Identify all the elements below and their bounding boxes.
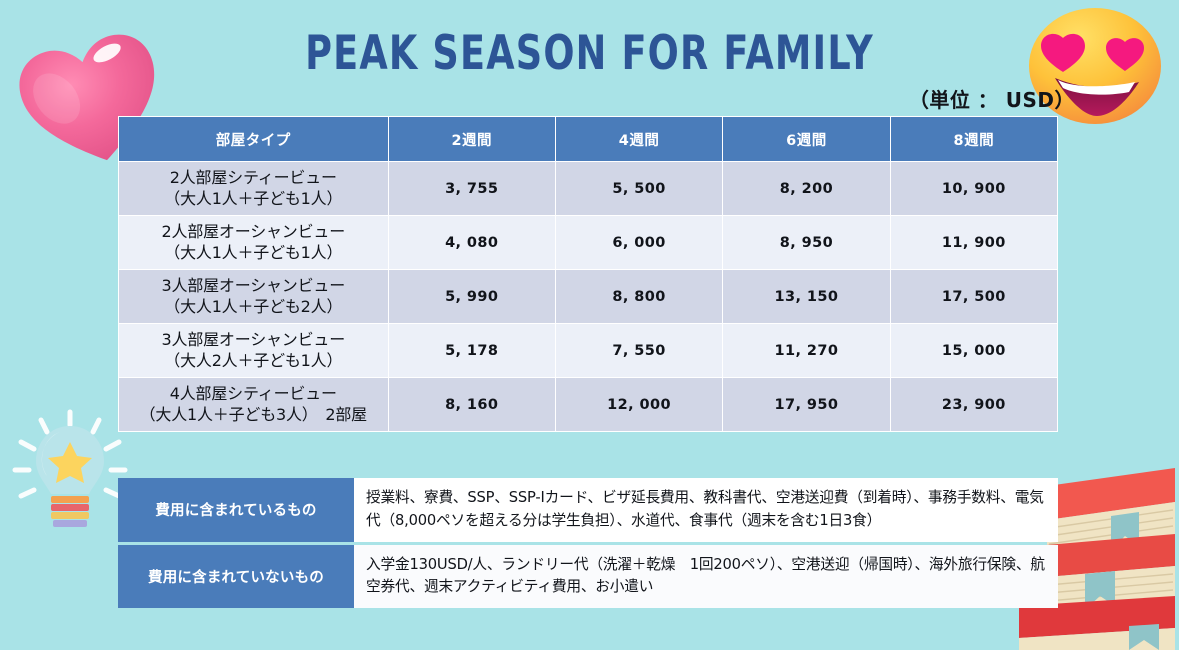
cell-price-6週間: 8, 200 (723, 162, 889, 215)
cell-price-4週間: 7, 550 (556, 324, 722, 377)
table-header-row: 部屋タイプ 2週間 4週間 6週間 8週間 (119, 117, 1057, 161)
column-header-8weeks: 8週間 (891, 117, 1057, 161)
column-header-6weeks: 6週間 (723, 117, 889, 161)
info-body-included: 授業料、寮費、SSP、SSP-Iカード、ビザ延長費用、教科書代、空港送迎費（到着… (354, 478, 1058, 542)
cell-price-6週間: 11, 270 (723, 324, 889, 377)
info-row-excluded: 費用に含まれていないもの 入学金130USD/人、ランドリー代（洗濯＋乾燥 1回… (118, 545, 1058, 609)
column-header-room-type: 部屋タイプ (119, 117, 388, 161)
cell-price-2週間: 5, 178 (389, 324, 555, 377)
info-boxes: 費用に含まれているもの 授業料、寮費、SSP、SSP-Iカード、ビザ延長費用、教… (118, 478, 1058, 611)
rates-table-wrap: 部屋タイプ 2週間 4週間 6週間 8週間 2人部屋シティービュー（大人1人＋子… (118, 116, 1058, 432)
cell-room-type: 2人部屋シティービュー（大人1人＋子ども1人） (119, 162, 388, 215)
cell-room-type: 3人部屋オーシャンビュー（大人1人＋子ども2人） (119, 270, 388, 323)
cell-price-8週間: 11, 900 (891, 216, 1057, 269)
cell-room-type: 3人部屋オーシャンビュー（大人2人＋子ども1人） (119, 324, 388, 377)
table-row: 2人部屋オーシャンビュー（大人1人＋子ども1人）4, 0806, 0008, 9… (119, 216, 1057, 269)
cell-price-2週間: 3, 755 (389, 162, 555, 215)
cell-price-6週間: 17, 950 (723, 378, 889, 431)
column-header-2weeks: 2週間 (389, 117, 555, 161)
info-body-excluded: 入学金130USD/人、ランドリー代（洗濯＋乾燥 1回200ペソ）、空港送迎（帰… (354, 545, 1058, 609)
cell-price-4週間: 6, 000 (556, 216, 722, 269)
cell-price-8週間: 23, 900 (891, 378, 1057, 431)
cell-price-8週間: 10, 900 (891, 162, 1057, 215)
cell-price-2週間: 5, 990 (389, 270, 555, 323)
cell-room-type: 4人部屋シティービュー（大人1人＋子ども3人） 2部屋 (119, 378, 388, 431)
cell-price-6週間: 13, 150 (723, 270, 889, 323)
info-row-included: 費用に含まれているもの 授業料、寮費、SSP、SSP-Iカード、ビザ延長費用、教… (118, 478, 1058, 542)
rates-table: 部屋タイプ 2週間 4週間 6週間 8週間 2人部屋シティービュー（大人1人＋子… (118, 116, 1058, 432)
table-row: 3人部屋オーシャンビュー（大人1人＋子ども2人）5, 9908, 80013, … (119, 270, 1057, 323)
unit-note: （単位 ： USD） (909, 84, 1075, 113)
info-label-excluded: 費用に含まれていないもの (118, 545, 354, 609)
table-row: 4人部屋シティービュー（大人1人＋子ども3人） 2部屋8, 16012, 000… (119, 378, 1057, 431)
table-row: 2人部屋シティービュー（大人1人＋子ども1人）3, 7555, 5008, 20… (119, 162, 1057, 215)
cell-price-2週間: 8, 160 (389, 378, 555, 431)
cell-room-type: 2人部屋オーシャンビュー（大人1人＋子ども1人） (119, 216, 388, 269)
cell-price-8週間: 17, 500 (891, 270, 1057, 323)
cell-price-6週間: 8, 950 (723, 216, 889, 269)
cell-price-4週間: 8, 800 (556, 270, 722, 323)
table-row: 3人部屋オーシャンビュー（大人2人＋子ども1人）5, 1787, 55011, … (119, 324, 1057, 377)
column-header-4weeks: 4週間 (556, 117, 722, 161)
cell-price-4週間: 5, 500 (556, 162, 722, 215)
page-title: PEAK SEASON FOR FAMILY (130, 26, 1050, 81)
rates-table-body: 2人部屋シティービュー（大人1人＋子ども1人）3, 7555, 5008, 20… (119, 162, 1057, 431)
cell-price-8週間: 15, 000 (891, 324, 1057, 377)
info-label-included: 費用に含まれているもの (118, 478, 354, 542)
lightbulb-icon (8, 408, 132, 540)
cell-price-4週間: 12, 000 (556, 378, 722, 431)
cell-price-2週間: 4, 080 (389, 216, 555, 269)
